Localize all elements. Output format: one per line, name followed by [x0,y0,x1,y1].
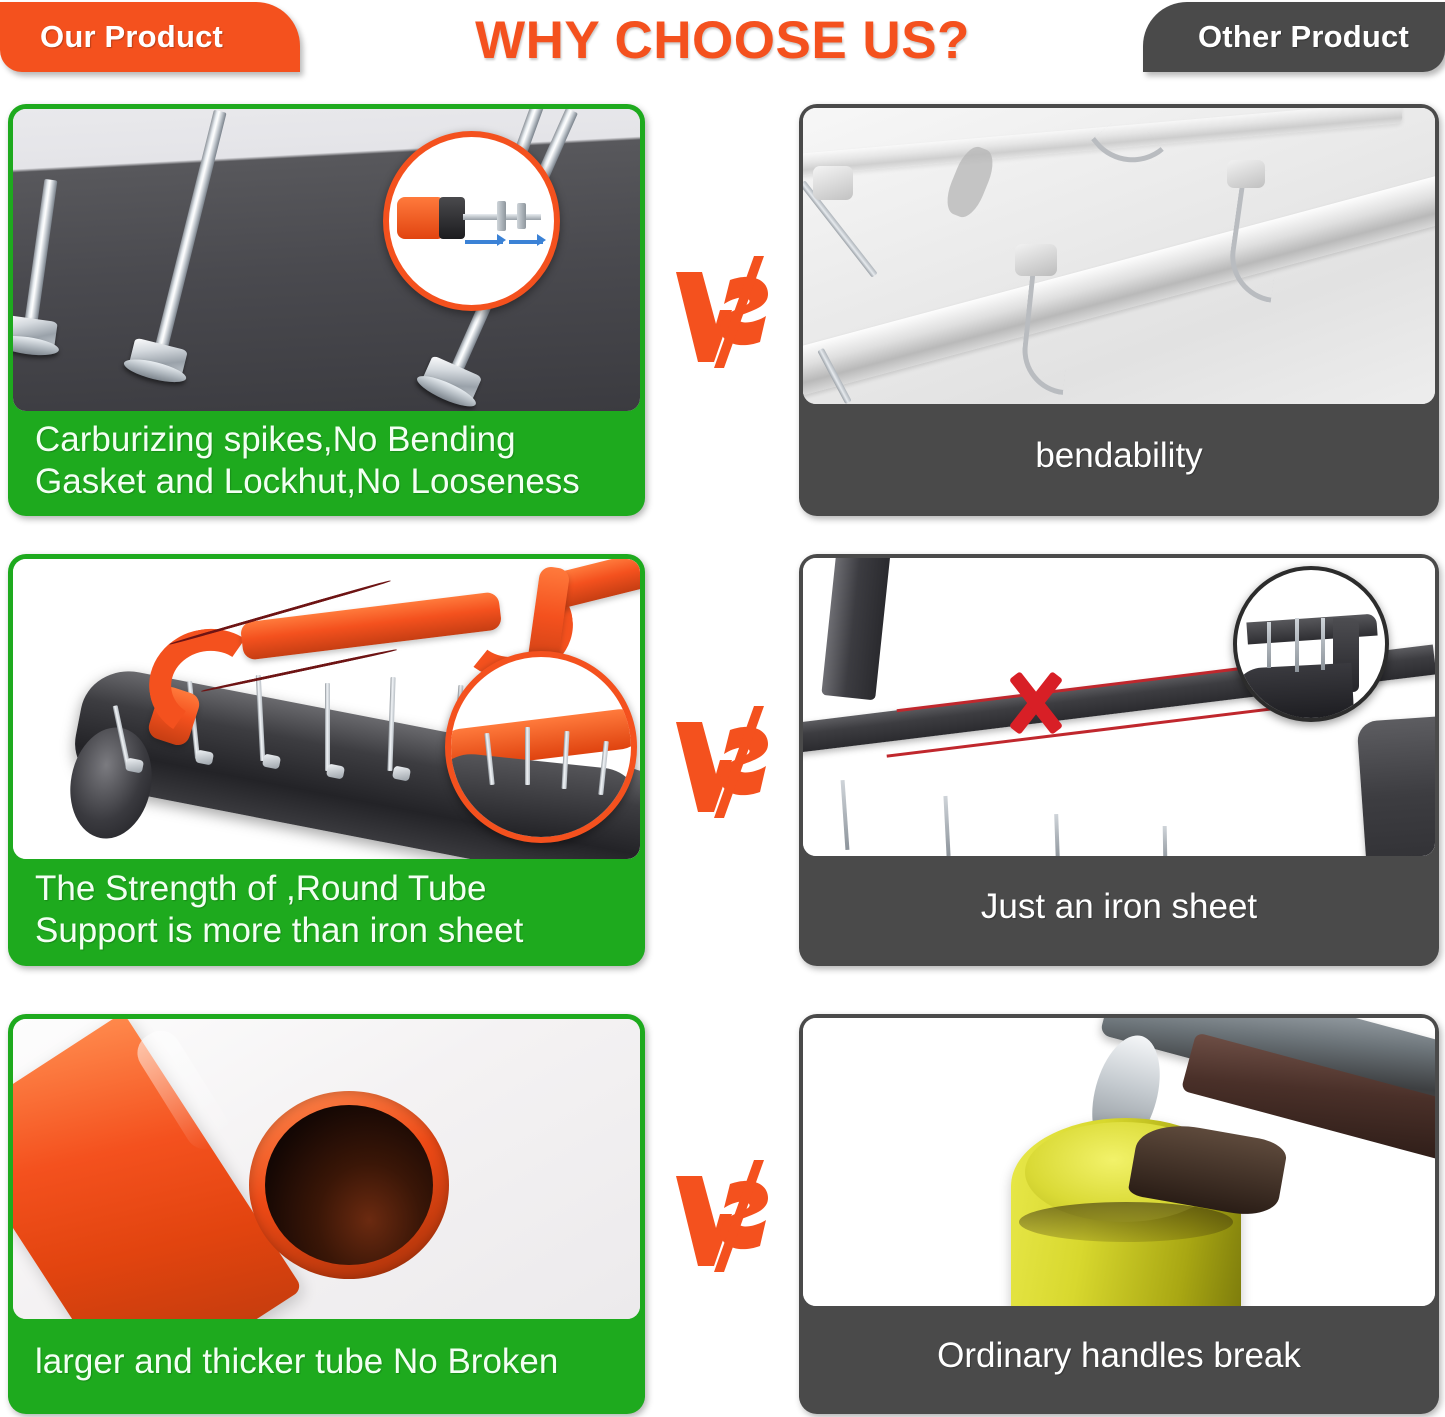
vs-lightning-icon [668,250,780,370]
our-product-image [13,559,640,859]
our-product-caption: The Strength of ,Round Tube Support is m… [13,859,640,966]
caption-line-1: Ordinary handles break [937,1335,1301,1376]
spiked-tube-photo-art [13,109,640,411]
screwdriver-callout-inset [383,131,560,311]
vs-badge [668,1154,780,1274]
our-product-panel: larger and thicker tube No Broken [8,1014,645,1414]
other-product-image [803,108,1435,404]
other-product-panel: Ordinary handles break [799,1014,1439,1414]
our-product-image [13,109,640,411]
other-product-banner: Other Product [1143,2,1445,72]
caption-line-2: Support is more than iron sheet [35,910,523,951]
vs-badge [668,250,780,370]
other-product-panel: bendability [799,104,1439,516]
our-product-panel: The Strength of ,Round Tube Support is m… [8,554,645,966]
caption-line-1: larger and thicker tube No Broken [35,1341,558,1382]
other-product-caption: Just an iron sheet [803,856,1435,966]
tube-joint-callout-inset [445,651,637,843]
other-product-image [803,1018,1435,1306]
comparison-row: Carburizing spikes,No Bending Gasket and… [0,104,1445,516]
thick-orange-tube-photo-art [13,1019,640,1319]
iron-sheet-callout-inset [1233,566,1389,722]
caption-line-1: bendability [1035,435,1202,476]
round-tube-support-photo-art [13,559,640,859]
vs-badge [668,700,780,820]
caption-line-1: The Strength of ,Round Tube [35,868,523,909]
red-x-mark [1001,668,1071,738]
other-product-image [803,558,1435,856]
iron-sheet-photo-art [803,558,1435,856]
other-product-label: Other Product [1198,19,1409,55]
comparison-row: The Strength of ,Round Tube Support is m… [0,554,1445,966]
page-header: Our Product WHY CHOOSE US? Other Product [0,0,1445,90]
other-product-panel: Just an iron sheet [799,554,1439,966]
our-product-caption: larger and thicker tube No Broken [13,1319,640,1414]
vs-lightning-icon [668,1154,780,1274]
caption-line-1: Just an iron sheet [981,886,1257,927]
broken-handle-photo-art [803,1018,1435,1306]
our-product-image [13,1019,640,1319]
vs-lightning-icon [668,700,780,820]
other-product-caption: bendability [803,404,1435,516]
caption-line-1: Carburizing spikes,No Bending [35,419,580,460]
our-product-panel: Carburizing spikes,No Bending Gasket and… [8,104,645,516]
our-product-caption: Carburizing spikes,No Bending Gasket and… [13,411,640,516]
comparison-row: larger and thicker tube No Broken [0,1014,1445,1414]
other-product-caption: Ordinary handles break [803,1306,1435,1414]
caption-line-2: Gasket and Lockhut,No Looseness [35,461,580,502]
bent-spike-bar-photo-art [803,108,1435,404]
